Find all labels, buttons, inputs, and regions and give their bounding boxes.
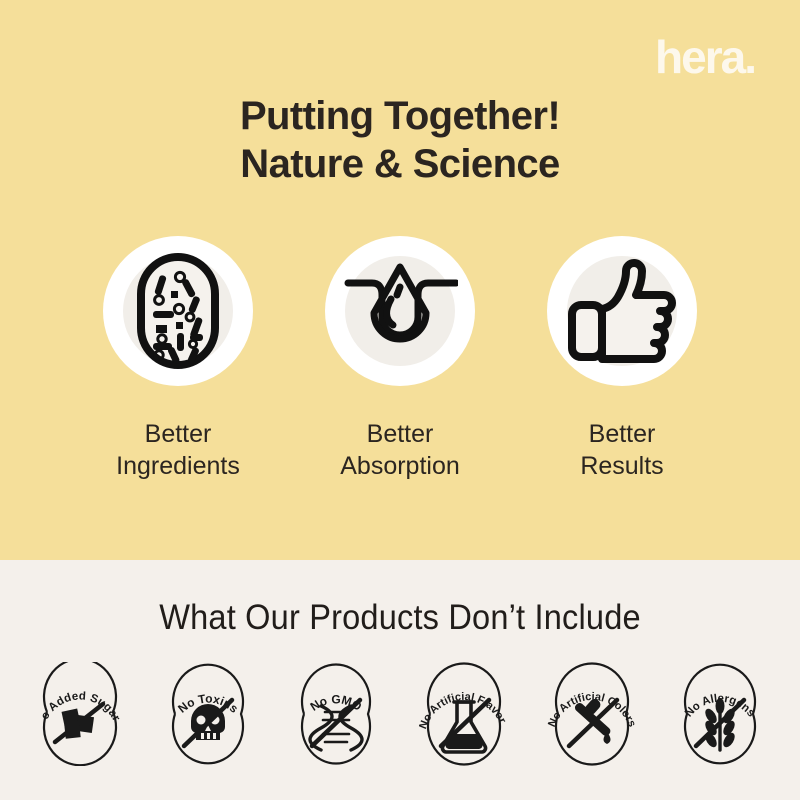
seal-no-artificial-flavors: No Artificial Flavors bbox=[419, 662, 509, 766]
feature-label-line-2: Results bbox=[522, 450, 722, 482]
feature-label-line-2: Ingredients bbox=[78, 450, 278, 482]
feature-label-absorption: Better Absorption bbox=[300, 418, 500, 482]
seal-no-toxins: No Toxins bbox=[163, 662, 253, 766]
feature-item-absorption: Better Absorption bbox=[325, 236, 475, 482]
thumbs-up-icon bbox=[566, 257, 678, 365]
svg-text:No Added Sugars: No Added Sugars bbox=[35, 662, 122, 724]
feature-item-results: Better Results bbox=[547, 236, 697, 482]
feature-label-line-2: Absorption bbox=[300, 450, 500, 482]
feature-icon-disc bbox=[325, 236, 475, 386]
feature-list: Better Ingredients Better Absorption bbox=[0, 236, 800, 482]
promo-poster: hera. Putting Together! Nature & Science bbox=[0, 0, 800, 800]
sugar-cubes-icon bbox=[55, 704, 103, 742]
seal-label-no-artificial-flavors: No Artificial Flavors bbox=[419, 662, 509, 731]
feature-label-ingredients: Better Ingredients bbox=[78, 418, 278, 482]
capsule-icon bbox=[135, 251, 221, 371]
exclusion-seal-list: No Added Sugars No Toxins bbox=[0, 662, 800, 766]
absorption-droplet-icon bbox=[342, 255, 458, 367]
seal-no-allergens: No Allergens bbox=[675, 662, 765, 766]
seal-no-added-sugars: No Added Sugars bbox=[35, 662, 125, 766]
page-title: Putting Together! Nature & Science bbox=[0, 92, 800, 188]
seal-no-gmo: No GMO bbox=[291, 662, 381, 766]
svg-text:No Artificial Flavors: No Artificial Flavors bbox=[419, 662, 509, 731]
page-title-line-1: Putting Together! bbox=[240, 94, 560, 138]
feature-item-ingredients: Better Ingredients bbox=[103, 236, 253, 482]
feature-icon-disc bbox=[103, 236, 253, 386]
feature-icon-disc bbox=[547, 236, 697, 386]
seal-no-artificial-colors: No Artificial Colors bbox=[547, 662, 637, 766]
brand-logo: hera. bbox=[655, 34, 755, 80]
page-title-line-2: Nature & Science bbox=[0, 140, 800, 188]
feature-label-results: Better Results bbox=[522, 418, 722, 482]
seal-label-no-added-sugars: No Added Sugars bbox=[35, 662, 122, 724]
feature-label-line-1: Better bbox=[145, 420, 212, 448]
feature-label-line-1: Better bbox=[589, 420, 656, 448]
exclusions-heading: What Our Products Don’t Include bbox=[28, 598, 772, 638]
feature-label-line-1: Better bbox=[367, 420, 434, 448]
